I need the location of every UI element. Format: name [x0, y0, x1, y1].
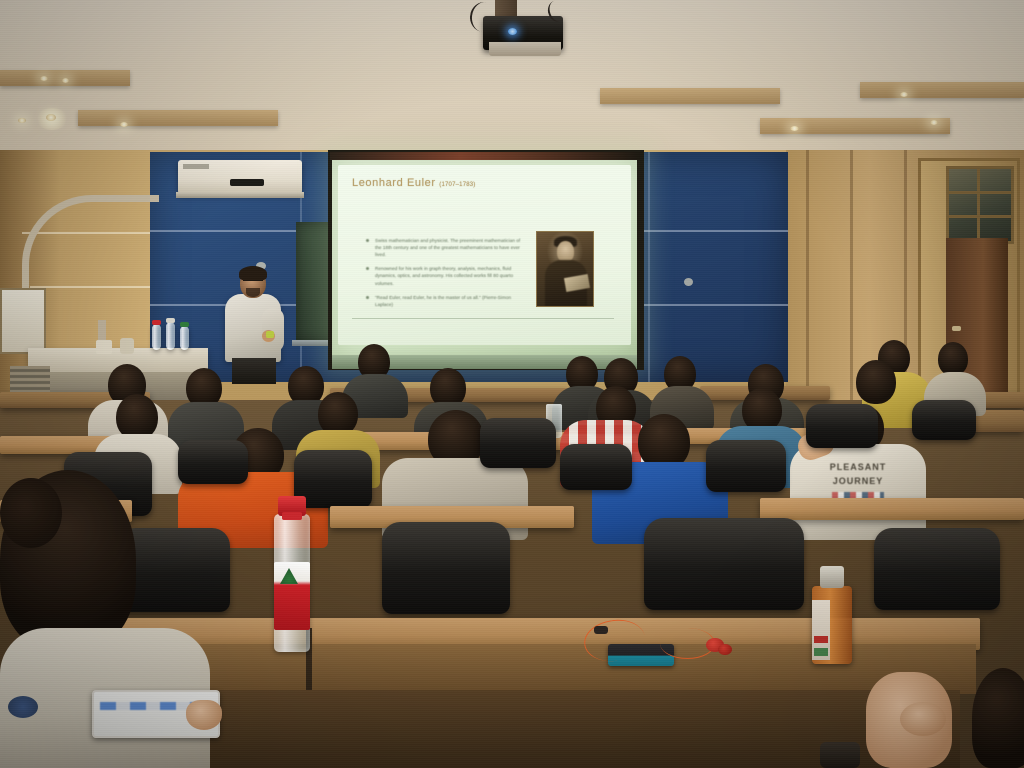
ceiling-light [18, 118, 26, 123]
ceiling-light [40, 76, 48, 81]
tee-print-line-2: JOURNEY [790, 476, 926, 486]
projector-bracket [489, 42, 561, 56]
wall-fitting [684, 278, 693, 286]
ceiling-light [790, 126, 799, 131]
presenter-hair [239, 266, 267, 281]
photo-scene: Leonhard Euler (1707–1783) Swiss mathema… [0, 0, 1024, 768]
slide-divider [352, 318, 614, 319]
chair [178, 440, 248, 484]
desk [760, 498, 1024, 520]
tea-bottle-label-accent [814, 636, 828, 643]
wristwatch [820, 742, 860, 768]
air-conditioner-vent [176, 192, 304, 198]
tea-bottle-label-accent [814, 648, 828, 656]
chair [806, 404, 878, 448]
desk-bottle [166, 322, 175, 350]
slide-bullet: Swiss mathematician and physicist. The p… [366, 237, 526, 258]
door-handle[interactable] [952, 326, 961, 331]
chair [706, 440, 786, 492]
student-head [938, 342, 968, 376]
slide-title-text: Leonhard Euler [352, 177, 436, 189]
earphone-plug [594, 626, 608, 634]
ceiling-light [46, 114, 56, 121]
slide-title-years: (1707–1783) [439, 182, 475, 188]
glasses-icon [243, 280, 263, 285]
tee-print-line-1: PLEASANT [790, 462, 926, 472]
projection-screen-top-bar [330, 152, 640, 160]
slide-bullet: Renowned for his work in graph theory, a… [366, 265, 526, 286]
desk-bottle-cap [166, 318, 175, 323]
tea-bottle-cap[interactable] [820, 566, 844, 588]
hand-bottom-right-thumb [900, 702, 946, 736]
ceiling-beam [760, 118, 950, 134]
chair [560, 444, 632, 490]
desk-bottle-cap [152, 320, 161, 325]
earbud[interactable] [718, 644, 732, 655]
desk-bottle [152, 324, 161, 350]
ceiling-beam [600, 88, 780, 104]
ceiling-light [62, 78, 69, 83]
water-bottle-neck [282, 512, 302, 520]
water-bottle-label [274, 562, 310, 630]
presentation-slide: Leonhard Euler (1707–1783) Swiss mathema… [338, 165, 631, 345]
foreground-person-hair-bun [0, 478, 62, 548]
slide-bullet-list: Swiss mathematician and physicist. The p… [366, 237, 526, 315]
desk-bottle-cap [180, 322, 189, 327]
desk-box [96, 340, 112, 354]
euler-portrait-image [536, 231, 594, 307]
door-transom-window [946, 166, 1014, 244]
portrait-face [557, 241, 574, 262]
side-window [0, 288, 46, 354]
air-conditioner-display [230, 179, 264, 186]
foreground-person-hand [186, 700, 222, 730]
ceiling-beam [860, 82, 1024, 98]
presenter-beard [246, 288, 260, 297]
ceiling-beam [78, 110, 278, 126]
ceiling-light [930, 120, 938, 125]
student-head [856, 360, 896, 404]
ceiling-light [120, 122, 128, 127]
chair [874, 528, 1000, 610]
slide-title: Leonhard Euler (1707–1783) [352, 177, 476, 189]
chair [912, 400, 976, 440]
slide-bullet: "Read Euler, read Euler, he is the maste… [366, 294, 526, 308]
desk-cup [120, 338, 134, 354]
chair [382, 522, 510, 614]
chair [480, 418, 556, 468]
presenter-legs [232, 358, 276, 384]
foreground-person-head-right [972, 668, 1024, 768]
marker-pen [266, 331, 274, 338]
projector-power-led-icon [508, 28, 517, 35]
chair [644, 518, 804, 610]
desk-bottle [180, 326, 189, 350]
air-conditioner [178, 160, 302, 194]
projection-screen: Leonhard Euler (1707–1783) Swiss mathema… [332, 160, 637, 360]
air-conditioner-brand-label [183, 164, 209, 169]
foreground-person-shirt-logo [8, 696, 38, 718]
ceiling-light [900, 92, 908, 97]
